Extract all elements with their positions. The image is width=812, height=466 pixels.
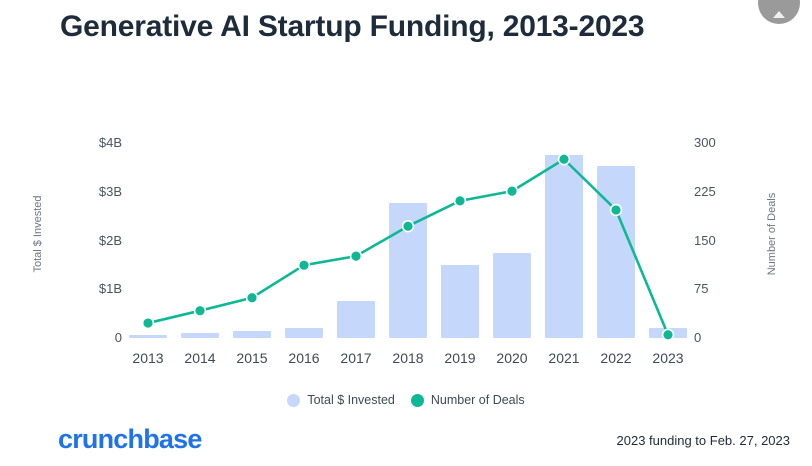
y-axis-right-tick: 150 <box>694 234 716 247</box>
y-axis-right-ticks: 075150225300 <box>694 120 740 380</box>
chevron-up-icon[interactable] <box>758 0 800 24</box>
data-point-2018[interactable] <box>403 222 412 231</box>
data-point-2015[interactable] <box>247 293 256 302</box>
chart-canvas: 2013201420152016201720182019202020212022… <box>122 120 694 380</box>
chevron-up-glyph <box>773 11 785 18</box>
data-point-2020[interactable] <box>507 187 516 196</box>
footer-note: 2023 funding to Feb. 27, 2023 <box>617 433 790 448</box>
y-axis-left-tick: 0 <box>115 331 122 344</box>
page-title: Generative AI Startup Funding, 2013-2023 <box>60 8 700 46</box>
y-axis-right-title: Number of Deals <box>766 174 778 294</box>
y-axis-left-ticks: 0$1B$2B$3B$4B <box>76 120 122 380</box>
legend-swatch-icon <box>287 394 300 407</box>
data-point-2023[interactable] <box>663 330 672 339</box>
data-point-2019[interactable] <box>455 196 464 205</box>
data-point-2017[interactable] <box>351 252 360 261</box>
crunchbase-logo[interactable]: crunchbase <box>58 424 202 455</box>
y-axis-left-tick: $2B <box>99 234 122 247</box>
chart-legend: Total $ InvestedNumber of Deals <box>0 393 812 407</box>
y-axis-left-title: Total $ Invested <box>32 174 44 294</box>
data-point-2021[interactable] <box>559 155 568 164</box>
legend-swatch-icon <box>411 394 424 407</box>
chart-footer: crunchbase 2023 funding to Feb. 27, 2023 <box>0 424 812 458</box>
data-point-2022[interactable] <box>611 205 620 214</box>
legend-item-1[interactable]: Number of Deals <box>411 393 525 407</box>
y-axis-right-tick: 75 <box>694 282 708 295</box>
y-axis-left-tick: $3B <box>99 185 122 198</box>
chart-plot-area: Total $ Invested Number of Deals 0$1B$2B… <box>0 120 812 380</box>
data-point-2014[interactable] <box>195 306 204 315</box>
data-point-2016[interactable] <box>299 261 308 270</box>
legend-label: Total $ Invested <box>307 393 395 407</box>
y-axis-left-tick: $1B <box>99 282 122 295</box>
legend-label: Number of Deals <box>431 393 525 407</box>
deals-line-path <box>148 159 668 335</box>
y-axis-right-tick: 0 <box>694 331 701 344</box>
legend-item-0[interactable]: Total $ Invested <box>287 393 395 407</box>
y-axis-right-tick: 300 <box>694 136 716 149</box>
y-axis-right-tick: 225 <box>694 185 716 198</box>
y-axis-left-tick: $4B <box>99 136 122 149</box>
line-series-layer <box>122 120 694 380</box>
data-point-2013[interactable] <box>143 318 152 327</box>
